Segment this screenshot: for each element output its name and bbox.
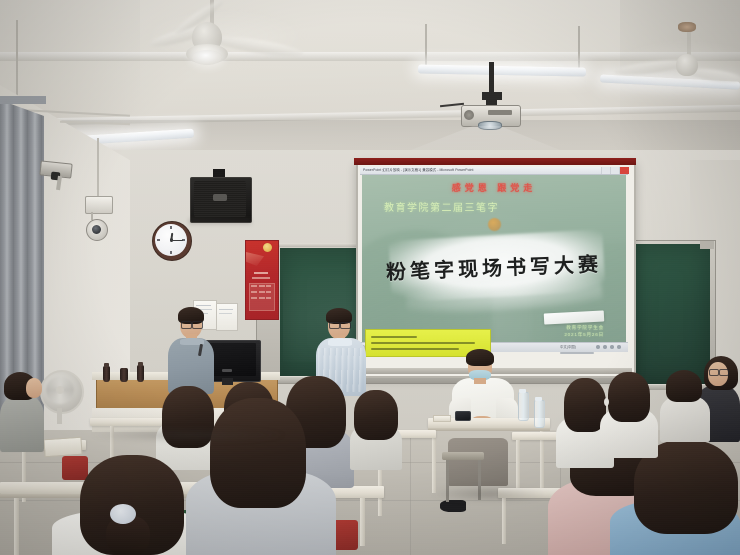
poster-title-line	[254, 272, 268, 274]
paper-sheet	[433, 415, 451, 422]
masked-student-hair	[466, 349, 494, 366]
status-icon[interactable]	[596, 345, 600, 349]
bottle-cap	[519, 389, 526, 393]
bottle-cap	[138, 362, 143, 366]
projector-detail	[488, 110, 512, 115]
poster-subtitle-line	[252, 277, 270, 279]
curtain-rail	[0, 96, 46, 104]
light-glow	[408, 58, 598, 84]
slide-seal-icon	[488, 218, 501, 231]
floor-tile-line	[410, 430, 411, 555]
green-chalkboard-right	[632, 244, 710, 384]
zoom-slider[interactable]	[560, 352, 594, 354]
monitor-logo	[222, 369, 232, 372]
board-speaker-glasses	[340, 322, 351, 329]
right-board-corner	[700, 241, 714, 249]
status-icon[interactable]	[603, 345, 607, 349]
smartphone[interactable]	[455, 411, 471, 421]
powerpoint-title-text: PowerPoint 幻灯片放映 - [演示文稿1] 兼容模式 - Micros…	[360, 167, 628, 174]
ceiling-fan-light-lens	[192, 50, 222, 65]
clock-tick	[157, 239, 160, 241]
bottle-cap	[535, 397, 542, 401]
audience-glasses	[719, 369, 729, 376]
dome-camera-lens	[92, 225, 101, 234]
notice-text-line	[219, 313, 232, 314]
powerpoint-title-bar: PowerPoint 幻灯片放映 - [演示文稿1] 兼容模式 - Micros…	[360, 167, 628, 175]
clock-center-pin	[170, 238, 174, 242]
audience-face	[26, 378, 42, 398]
wall-equipment-box	[85, 196, 113, 214]
slide-red-headline: 感党恩 跟党走	[362, 181, 626, 194]
poster-table-cell	[251, 291, 257, 293]
close-button[interactable]	[619, 167, 629, 174]
status-icon[interactable]	[610, 345, 614, 349]
audience-hair	[354, 390, 398, 440]
earring	[604, 398, 609, 406]
poster-emblem-icon	[263, 243, 272, 252]
hair-scrunchie	[110, 504, 136, 524]
projector-mount-rod	[489, 62, 494, 94]
poster-table-cell	[251, 297, 257, 299]
clock-tick	[170, 251, 172, 254]
presentation-slide: 感党恩 跟党走 教育学院第二届三笔字 粉笔字现场书写大赛 教育学院学生会 202…	[362, 175, 626, 342]
dark-bottle	[103, 366, 110, 382]
desk-fan-stem	[57, 408, 62, 424]
board-speaker-glasses	[329, 322, 340, 329]
desk-leg	[502, 498, 506, 544]
poster-table-cell	[259, 285, 265, 287]
audience-body	[0, 396, 44, 452]
slide-footer-date: 2021年5月26日	[482, 332, 604, 338]
poster-table-cell	[251, 285, 257, 287]
wall-notice-sheet	[216, 303, 238, 331]
poster-table-cell	[259, 297, 265, 299]
dark-bottle	[137, 365, 144, 382]
audience-hair	[608, 372, 650, 422]
desk-leg	[14, 498, 19, 555]
notice-text-line	[219, 309, 233, 310]
audience-hair	[210, 398, 306, 508]
desk-leg	[360, 498, 365, 546]
notice-text-line	[196, 305, 211, 306]
monitor-stand	[222, 378, 233, 385]
audience-body	[660, 396, 710, 442]
presenter-glasses	[192, 321, 203, 329]
chair	[442, 452, 484, 460]
paper-stack	[43, 437, 82, 458]
status-bar-right-text: 中文(中国)	[560, 344, 576, 349]
projector-lens	[478, 121, 502, 130]
dark-bottle	[120, 368, 128, 382]
masked-student-neck	[474, 378, 486, 384]
desk-fan-hub	[56, 386, 64, 394]
classroom-photo: PowerPoint 幻灯片放映 - [演示文稿1] 兼容模式 - Micros…	[0, 0, 740, 555]
poster-table-cell	[259, 291, 265, 293]
audience-glasses	[709, 369, 719, 376]
presenter-glasses-bridge	[190, 323, 192, 324]
water-bottle	[518, 392, 529, 421]
projector-notice-text: 请勿遮挡投影镜头 使用后请关闭电源	[367, 331, 487, 353]
bottle-cap	[104, 363, 109, 367]
floor-shadow	[430, 486, 550, 502]
slide-footer-org: 教育学院学生会	[482, 325, 604, 331]
audience-hair	[666, 370, 702, 402]
clock-tick	[170, 226, 172, 229]
student-desk-edge	[428, 428, 550, 431]
poster-table-cell	[266, 285, 271, 287]
ceiling-fan-mount	[678, 22, 696, 32]
status-icon[interactable]	[617, 345, 621, 349]
slide-green-subtitle: 教育学院第二届三笔字	[384, 199, 499, 214]
red-bag	[62, 456, 88, 480]
water-bottle	[534, 400, 545, 428]
ceiling-fan-motor	[676, 54, 698, 76]
desk-leg	[432, 431, 436, 493]
poster-table-cell	[266, 297, 271, 299]
projection-screen-top-bar	[354, 158, 636, 165]
floor-shadow	[88, 428, 288, 442]
poster-table-cell	[266, 291, 271, 293]
desk-leg	[516, 440, 520, 490]
speaker-logo	[213, 194, 227, 201]
speaker-shadow	[189, 219, 251, 224]
projector-vent	[464, 110, 474, 120]
equipment-box-hanger	[97, 138, 99, 200]
projection-screen-bottom-edge	[356, 368, 632, 374]
board-speaker-collar	[328, 338, 352, 346]
